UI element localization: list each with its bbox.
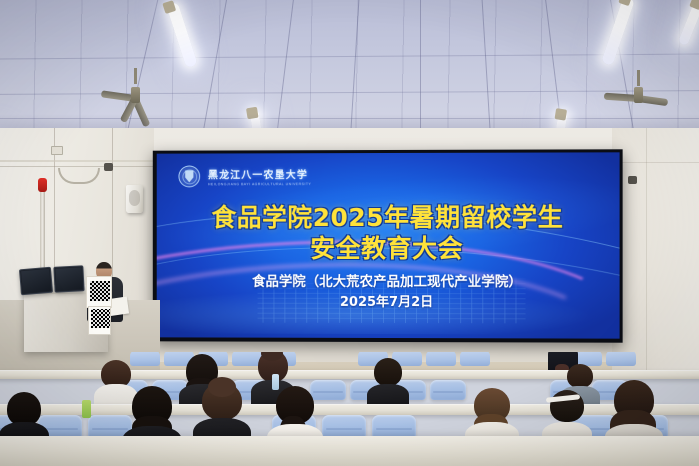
slide-title: 食品学院2025年暑期留校学生 安全教育大会 — [157, 203, 620, 264]
audience-head — [374, 358, 402, 386]
slide-date: 2025年7月2日 — [157, 291, 620, 311]
fan-hub — [634, 87, 643, 103]
chair — [460, 352, 490, 366]
wall-camera-icon — [104, 163, 113, 171]
chair — [426, 352, 456, 366]
slide-subtitle: 食品学院（北大荒农产品加工现代产业学院） — [157, 273, 620, 292]
right-wall — [612, 128, 699, 378]
slide-title-line-2: 安全教育大会 — [157, 233, 620, 264]
slide-title-line-1: 食品学院2025年暑期留校学生 — [157, 203, 620, 234]
ceiling — [0, 0, 699, 140]
presentation-slide: 黑龙江八一农垦大学 HEILONGJIANG BAYI AGRICULTURAL… — [157, 152, 620, 338]
chair — [606, 352, 636, 366]
qr-code-icon — [91, 309, 110, 328]
wall-panel-seam — [612, 162, 699, 163]
qr-code-poster — [86, 276, 112, 308]
audience-hair-bun — [208, 377, 236, 397]
slide-footer: 食品学院（北大荒农产品加工现代产业学院） 2025年7月2日 — [157, 273, 620, 311]
fan-hub — [131, 87, 140, 103]
ceiling-fan-icon — [612, 80, 664, 110]
foreground-desk — [0, 436, 699, 466]
podium-monitor — [53, 265, 84, 293]
audience-seating — [0, 352, 699, 466]
fan-rod — [637, 70, 640, 86]
wall-panel-seam — [646, 128, 647, 378]
wall-panel-seam — [0, 166, 154, 167]
podium-monitor — [19, 267, 53, 296]
cable-conduit — [0, 160, 154, 162]
drink-bottle — [82, 400, 91, 418]
qr-code-icon — [90, 281, 110, 301]
ceiling-fan-icon — [108, 78, 162, 112]
university-seal-icon — [178, 165, 200, 187]
university-name-en: HEILONGJIANG BAYI AGRICULTURAL UNIVERSIT… — [208, 182, 311, 186]
wall-outlet-icon — [51, 146, 63, 155]
audience-member — [368, 358, 408, 408]
audience-head — [567, 364, 593, 388]
desk — [0, 404, 699, 415]
university-name-cn: 黑龙江八一农垦大学 — [208, 166, 311, 181]
lecture-hall-scene: 黑龙江八一农垦大学 HEILONGJIANG BAYI AGRICULTURAL… — [0, 0, 699, 466]
wall-speaker-icon — [126, 185, 143, 213]
wall-camera-icon — [628, 176, 637, 184]
fan-rod — [134, 68, 137, 84]
led-display-screen: 黑龙江八一农垦大学 HEILONGJIANG BAYI AGRICULTURAL… — [153, 149, 623, 342]
chair — [430, 380, 466, 400]
qr-code-poster — [88, 306, 111, 335]
audience-head — [7, 392, 41, 426]
water-bottle — [272, 374, 279, 390]
university-logo: 黑龙江八一农垦大学 HEILONGJIANG BAYI AGRICULTURAL… — [178, 165, 311, 187]
